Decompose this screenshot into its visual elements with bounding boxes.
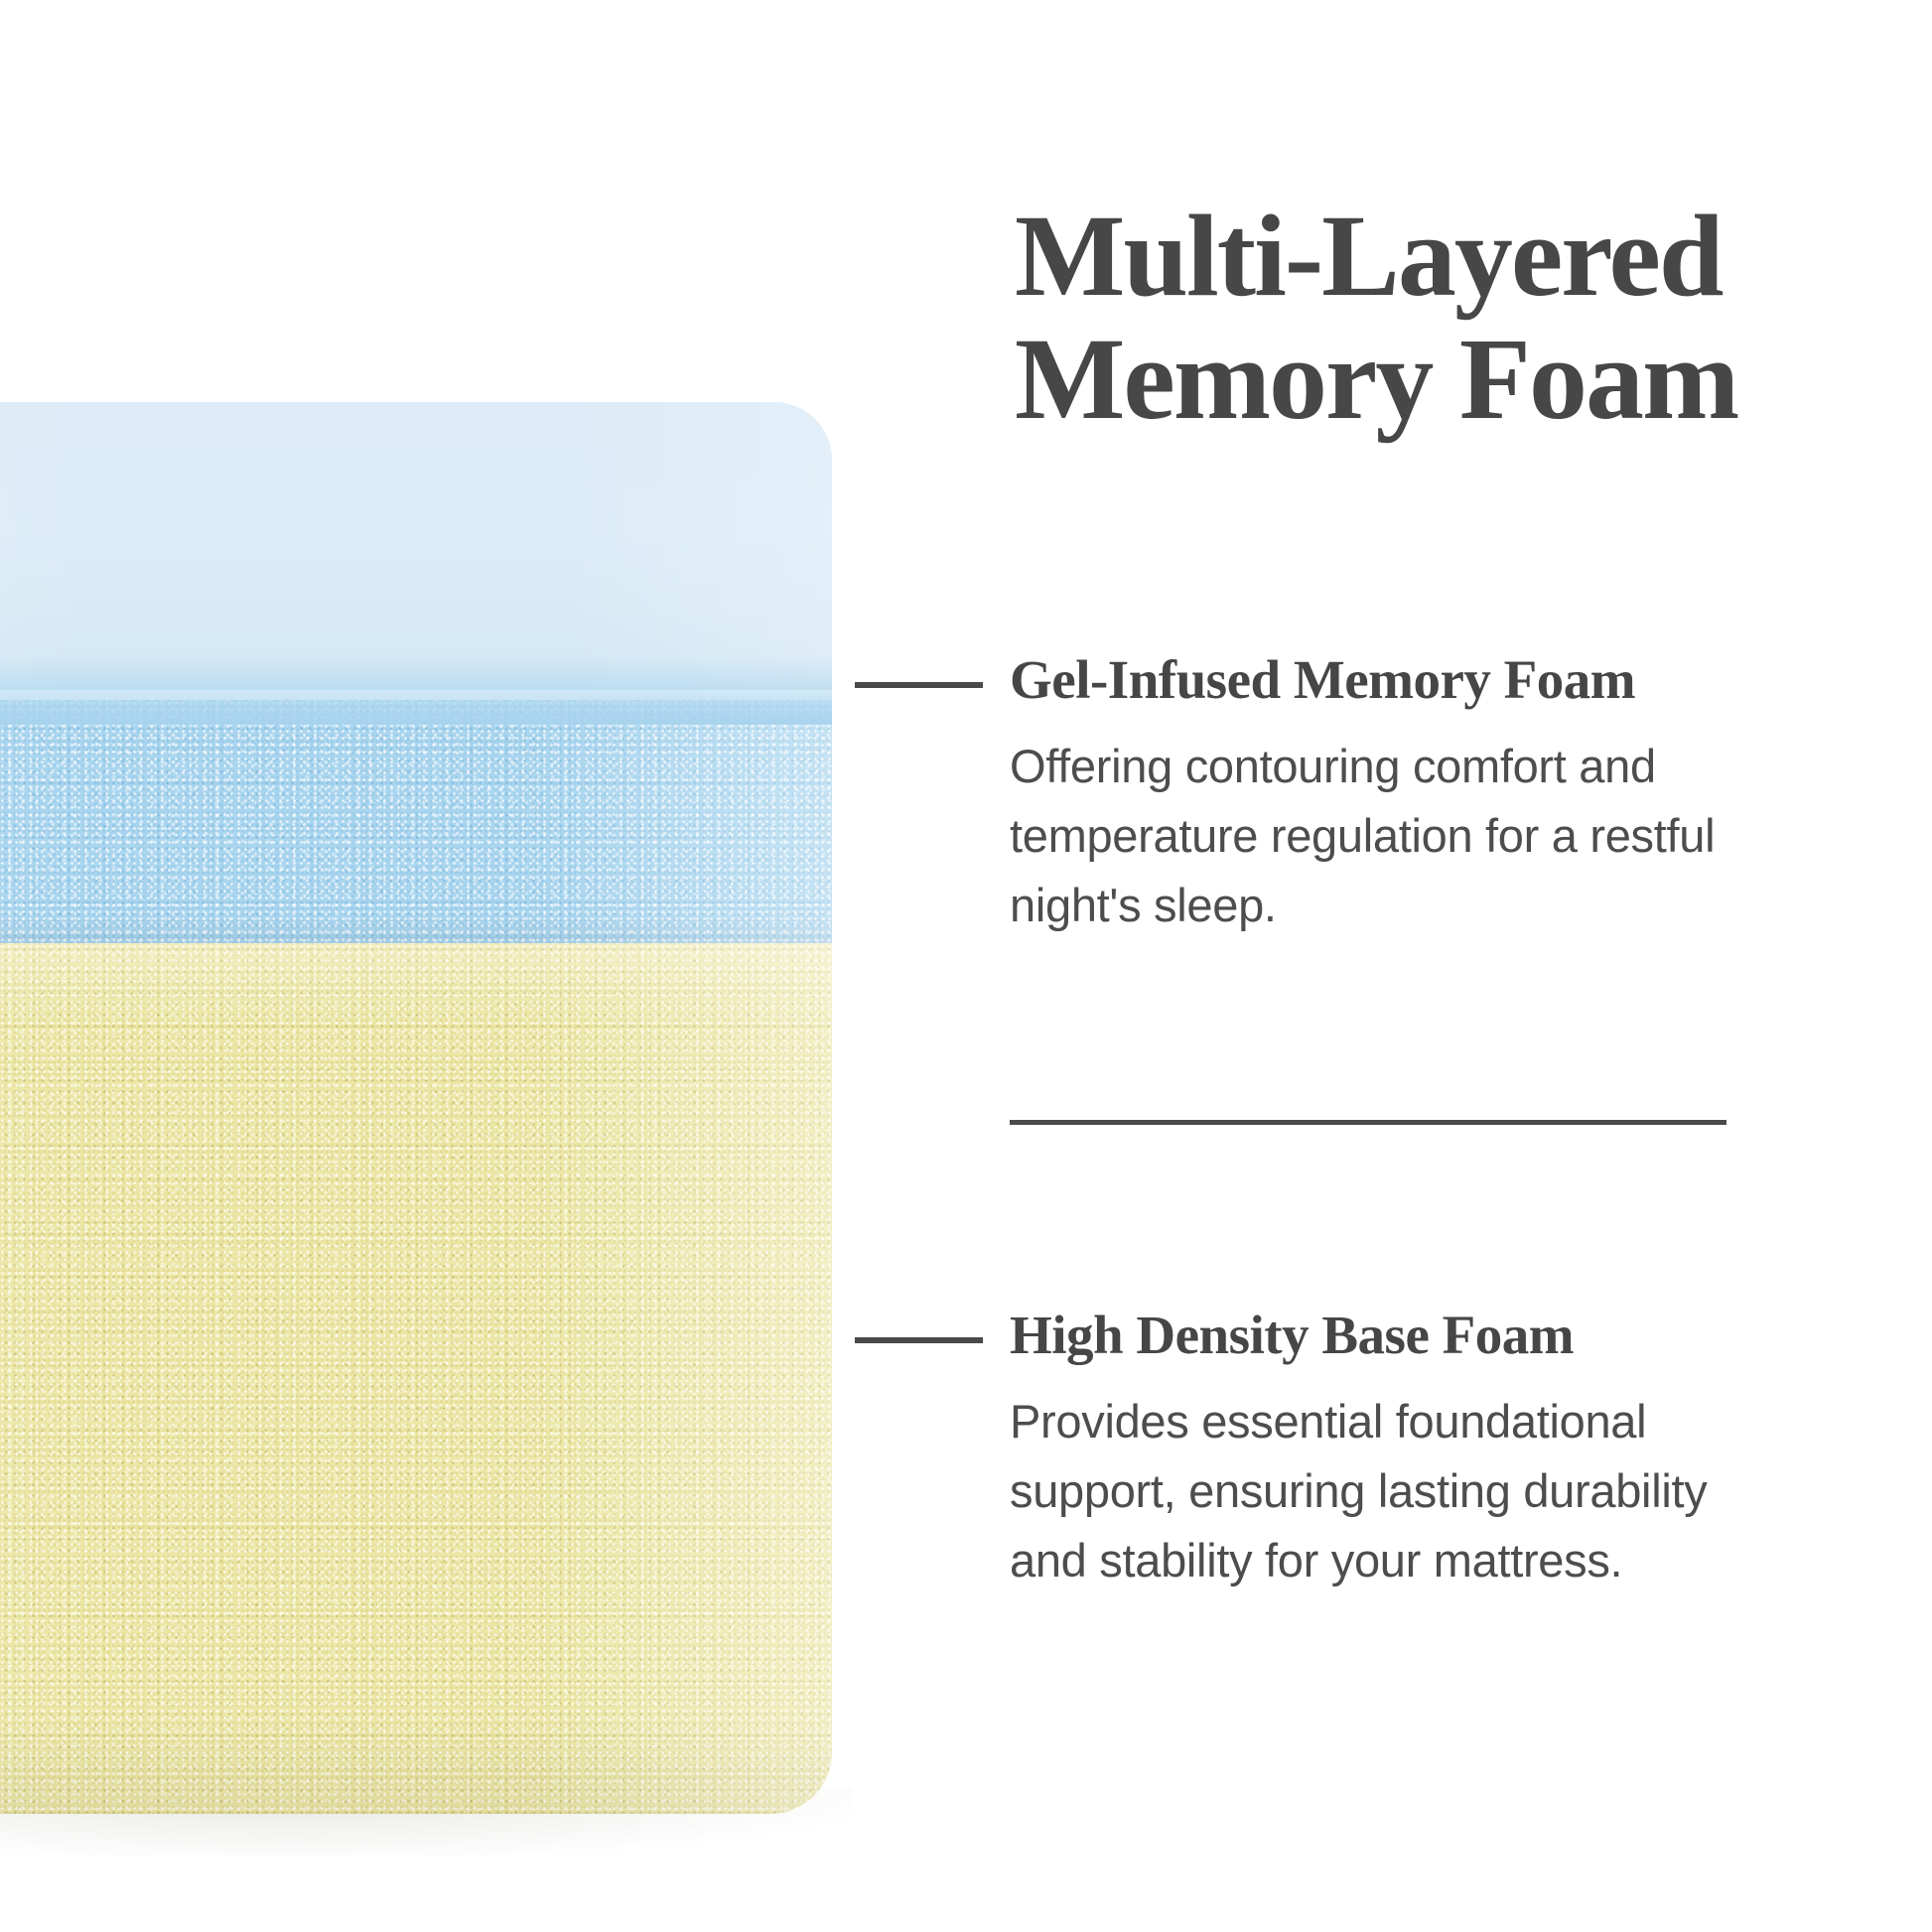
page-title-line-1: Multi-Layered <box>1015 195 1839 318</box>
section-divider <box>1010 1120 1726 1125</box>
page-title: Multi-Layered Memory Foam <box>1015 195 1839 441</box>
feature-dash-icon <box>855 682 983 688</box>
foam-block-image <box>0 402 832 1814</box>
feature-title: Gel-Infused Memory Foam <box>1010 650 1834 710</box>
foam-cell-texture-yellow <box>0 943 832 1814</box>
feature-title: High Density Base Foam <box>1010 1306 1834 1365</box>
feature-gel-infused-memory-foam: Gel-Infused Memory Foam Offering contour… <box>1010 650 1834 940</box>
foam-cell-texture-blue <box>0 700 832 943</box>
feature-high-density-base-foam: High Density Base Foam Provides essentia… <box>1010 1306 1834 1595</box>
feature-description: Provides essential foundational support,… <box>1010 1387 1764 1595</box>
foam-lighting-overlay-blue <box>0 700 832 943</box>
page-title-line-2: Memory Foam <box>1015 318 1839 441</box>
infographic-canvas: Multi-Layered Memory Foam Gel-Infused Me… <box>0 0 1932 1932</box>
info-panel: Multi-Layered Memory Foam Gel-Infused Me… <box>1010 0 1834 1932</box>
foam-layer-top-surface <box>0 402 832 690</box>
foam-surface-blend <box>0 655 832 725</box>
foam-lighting-overlay-yellow <box>0 943 832 1814</box>
foam-layer-high-density-base <box>0 943 832 1814</box>
feature-dash-icon <box>855 1337 983 1343</box>
foam-layer-gel-infused <box>0 700 832 943</box>
feature-description: Offering contouring comfort and temperat… <box>1010 732 1764 940</box>
